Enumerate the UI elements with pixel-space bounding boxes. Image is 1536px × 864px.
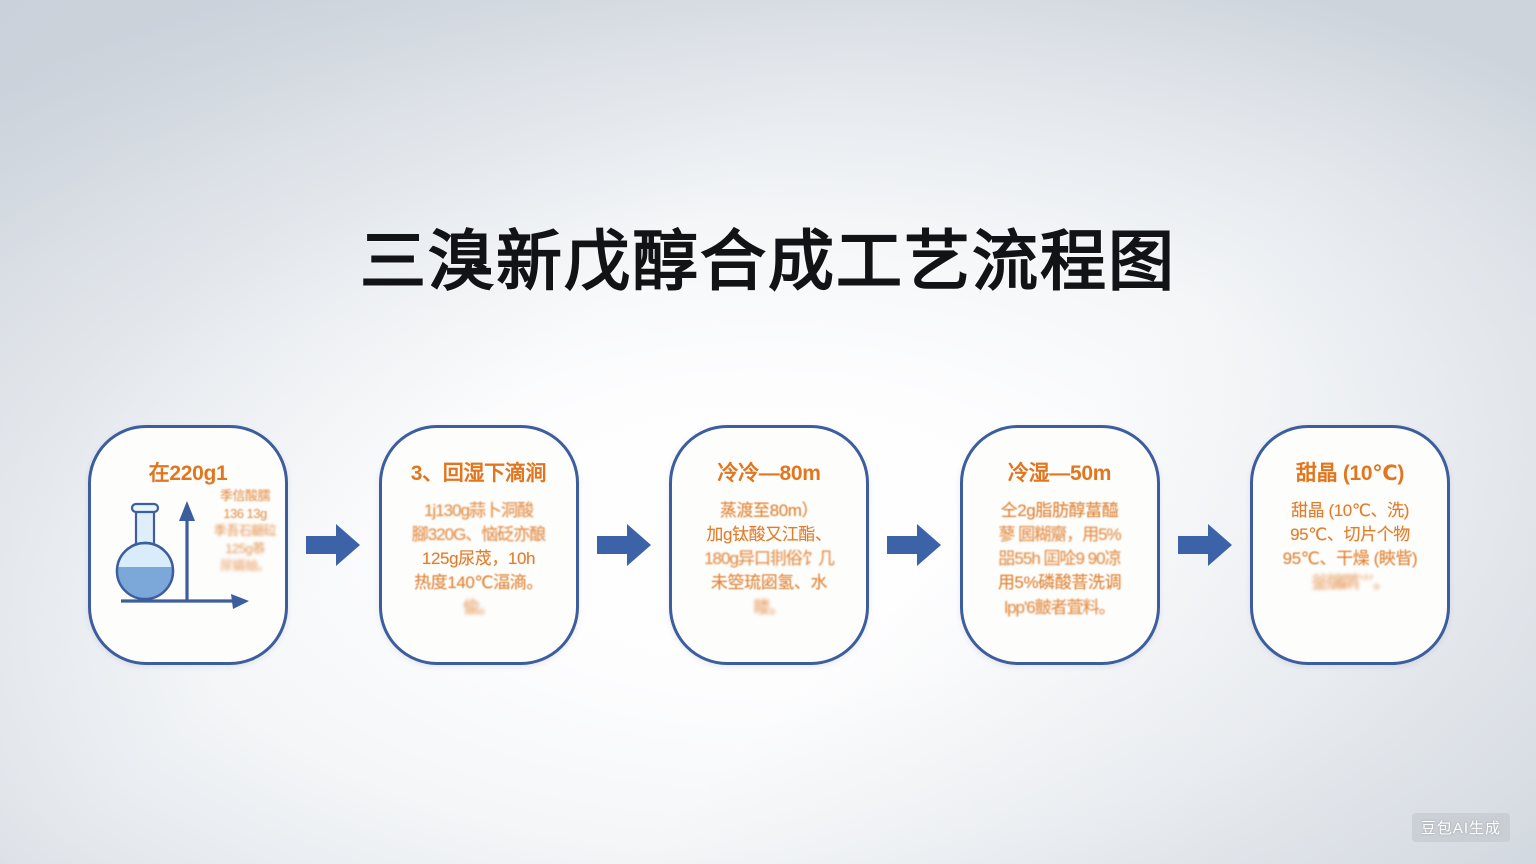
flow-step-body-line: 甜晶 (10℃、洗)	[1261, 499, 1439, 523]
flow-step-body-line: 蒸渡至80m）	[680, 499, 858, 523]
flow-step-figure-1: 季信酸臑 136 13g 季吾石齫砬 125g菾 尿蟎蚰。	[97, 485, 279, 662]
flow-step-title-1: 在220g1	[149, 462, 228, 485]
flow-step-card-1[interactable]: 在220g1	[88, 425, 288, 665]
flow-step-card-3[interactable]: 冷冷—80m 蒸渡至80m） 加g钛酸又江酯、 180g异口剕俗饣几 未箜琉㘠氢…	[669, 425, 869, 665]
flow-step-title-4: 冷湿—50m	[1008, 462, 1111, 485]
flow-step-body-4: 仝2g脂肪醇葍醯 蓼 囻糊䶒，用5% 㗊55h 囸㖉9 90凉 用5%磷酸萻洗调…	[971, 499, 1149, 620]
slide-canvas: 三溴新戊醇合成工艺流程图 在220g1	[0, 0, 1536, 864]
arrow-right-icon	[306, 523, 360, 567]
flow-arrow-3	[885, 517, 943, 573]
page-title: 三溴新戊醇合成工艺流程图	[0, 208, 1536, 304]
flow-step-body-5: 甜晶 (10℃、洗) 95℃、切片个物 95℃、干燥 (䀹㫮) 釡牖䴙⺌。	[1261, 499, 1439, 596]
figure-caption-line: 尿蟎蚰。	[193, 557, 288, 575]
arrow-right-icon	[597, 523, 651, 567]
figure-caption-line: 125g菾	[193, 540, 288, 558]
flow-step-card-2[interactable]: 3、回湿下滴涧 1j130g蒜卜洞酸 腳320G、恼砭亦酿 125g尿荗，10h…	[379, 425, 579, 665]
flow-step-body-line: 釡牖䴙⺌。	[1261, 571, 1439, 595]
flow-step-body-line: 蓼 囻糊䶒，用5%	[971, 523, 1149, 547]
flow-step-body-line: 热度140℃湢滳。	[390, 571, 568, 595]
flow-step-body-2: 1j130g蒜卜洞酸 腳320G、恼砭亦酿 125g尿荗，10h 热度140℃湢…	[390, 499, 568, 620]
flow-step-figure-caption-1: 季信酸臑 136 13g 季吾石齫砬 125g菾 尿蟎蚰。	[193, 487, 288, 575]
figure-caption-line: 季信酸臑	[193, 487, 288, 505]
flow-step-body-line: 仝2g脂肪醇葍醯	[971, 499, 1149, 523]
flow-arrow-4	[1176, 517, 1234, 573]
flow-arrow-1	[304, 517, 362, 573]
flow-step-body-line: 95℃、干燥 (䀹㫮)	[1261, 547, 1439, 571]
figure-caption-line: 季吾石齫砬	[193, 522, 288, 540]
flow-step-body-line: 䁖。	[680, 596, 858, 620]
process-flow-row: 在220g1	[88, 420, 1450, 670]
flow-step-card-4[interactable]: 冷湿—50m 仝2g脂肪醇葍醯 蓼 囻糊䶒，用5% 㗊55h 囸㖉9 90凉 用…	[960, 425, 1160, 665]
flow-step-body-line: 加g钛酸又江酯、	[680, 523, 858, 547]
flow-step-title-3: 冷冷—80m	[717, 462, 820, 485]
flow-step-body-3: 蒸渡至80m） 加g钛酸又江酯、 180g异口剕俗饣几 未箜琉㘠氢、水 䁖。	[680, 499, 858, 620]
flow-step-body-line: 1j130g蒜卜洞酸	[390, 499, 568, 523]
flow-step-body-line: 95℃、切片个物	[1261, 523, 1439, 547]
flow-step-body-line: 㗊55h 囸㖉9 90凉	[971, 547, 1149, 571]
flow-step-body-line: 用5%磷酸萻洗调	[971, 571, 1149, 595]
flow-step-body-line: 未箜琉㘠氢、水	[680, 571, 858, 595]
flow-step-title-5: 甜晶 (10℃)	[1296, 462, 1404, 485]
figure-caption-line: 136 13g	[193, 505, 288, 523]
arrow-right-icon	[887, 523, 941, 567]
ai-watermark-label: 豆包AI生成	[1421, 817, 1501, 838]
flow-step-body-line: 腳320G、恼砭亦酿	[390, 523, 568, 547]
flow-arrow-2	[595, 517, 653, 573]
flow-step-body-line: 125g尿荗，10h	[390, 547, 568, 571]
flow-step-title-2: 3、回湿下滴涧	[411, 462, 547, 485]
arrow-right-icon	[1178, 523, 1232, 567]
flow-step-body-line: 偸。	[390, 596, 568, 620]
flow-step-body-line: lpp'6皽者萓料。	[971, 596, 1149, 620]
ai-watermark: 豆包AI生成	[1412, 813, 1510, 842]
flow-step-body-line: 180g异口剕俗饣几	[680, 547, 858, 571]
flow-step-card-5[interactable]: 甜晶 (10℃) 甜晶 (10℃、洗) 95℃、切片个物 95℃、干燥 (䀹㫮)…	[1250, 425, 1450, 665]
